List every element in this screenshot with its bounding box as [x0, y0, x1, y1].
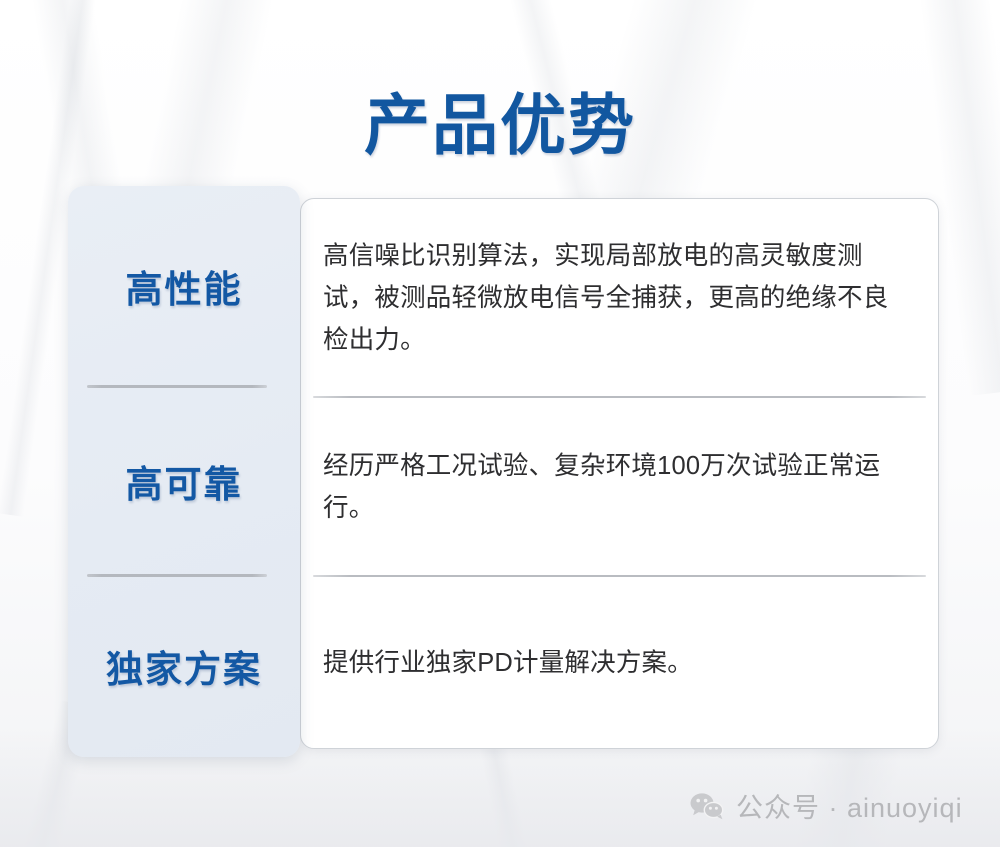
advantage-label-row: 高可靠 — [68, 386, 300, 575]
advantage-label: 独家方案 — [106, 639, 262, 693]
advantage-text-row: 经历严格工况试验、复杂环境100万次试验正常运行。 — [301, 397, 938, 576]
wechat-icon — [690, 792, 724, 820]
footer-text: 公众号 · ainuoyiqi — [736, 786, 963, 825]
footer-account-credit: 公众号 · ainuoyiqi — [690, 786, 963, 825]
advantage-label: 高性能 — [126, 259, 243, 313]
page-title: 产品优势 — [0, 72, 1000, 168]
advantage-text-list: 高信噪比识别算法，实现局部放电的高灵敏度测试，被测品轻微放电信号全捕获，更高的绝… — [301, 199, 938, 748]
advantage-label-row: 独家方案 — [68, 575, 300, 757]
advantage-text-row: 提供行业独家PD计量解决方案。 — [301, 576, 938, 750]
advantage-label-list: 高性能 高可靠 独家方案 — [68, 186, 300, 757]
advantage-label-row: 高性能 — [68, 186, 300, 386]
advantages-content-card: 高信噪比识别算法，实现局部放电的高灵敏度测试，被测品轻微放电信号全捕获，更高的绝… — [300, 198, 939, 749]
advantages-label-card: 高性能 高可靠 独家方案 — [68, 186, 300, 757]
advantage-description: 高信噪比识别算法，实现局部放电的高灵敏度测试，被测品轻微放电信号全捕获，更高的绝… — [301, 235, 938, 361]
advantage-description: 提供行业独家PD计量解决方案。 — [301, 642, 719, 684]
advantage-label: 高可靠 — [126, 454, 243, 508]
slide-canvas: Ainuo 电力电子测试方案专业提供商 产品优势 高信噪比识别算法，实现局部放电… — [0, 0, 1000, 847]
advantage-text-row: 高信噪比识别算法，实现局部放电的高灵敏度测试，被测品轻微放电信号全捕获，更高的绝… — [301, 199, 938, 397]
advantage-description: 经历严格工况试验、复杂环境100万次试验正常运行。 — [301, 445, 938, 529]
